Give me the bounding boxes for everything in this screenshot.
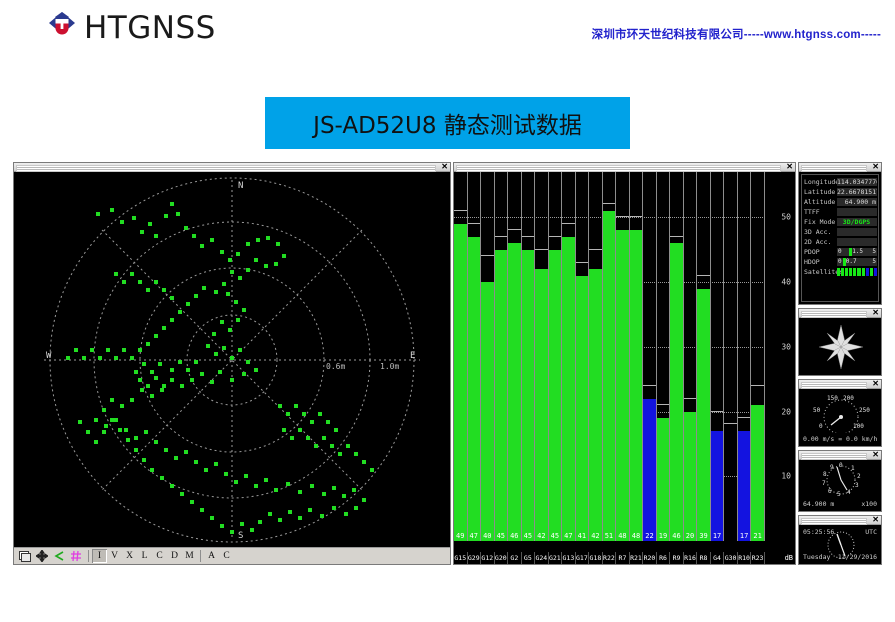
chart-unit-label: dB xyxy=(785,552,793,564)
satellite-name[interactable]: G12 xyxy=(481,552,495,564)
scale-letter-x[interactable]: X xyxy=(122,549,137,563)
signal-bar-peak-marker xyxy=(603,203,616,204)
signal-bar-peak-marker xyxy=(535,249,548,250)
info-row: Fix Mode3D/DGPS xyxy=(803,217,877,227)
speed-tick-0: 0 xyxy=(819,423,823,430)
satellites-row: Satellites xyxy=(803,267,877,277)
grid-icon[interactable] xyxy=(68,549,84,563)
info-row-key: Altitude xyxy=(803,198,837,206)
signal-bar[interactable]: 21 xyxy=(751,172,765,541)
compass-west-label: W xyxy=(46,351,52,361)
signal-bar-peak-marker xyxy=(684,398,697,399)
info-row-value: 114.03477700 ? xyxy=(837,178,877,186)
dop-bar: 00.75 xyxy=(837,258,877,266)
signal-bar[interactable]: 47 xyxy=(562,172,576,541)
signal-bar-peak-marker xyxy=(562,223,575,224)
signal-bar-value: 42 xyxy=(535,532,548,540)
title-banner: JS-AD52U8 静态测试数据 xyxy=(265,97,630,149)
satellite-indicator xyxy=(849,268,852,276)
signal-bar-peak-marker xyxy=(670,236,683,237)
satellite-indicator xyxy=(870,268,873,276)
satellites-key: Satellites xyxy=(803,268,837,276)
signal-bar-value: 51 xyxy=(603,532,616,540)
signal-bar[interactable]: 19 xyxy=(657,172,671,541)
info-row: 3D Acc. xyxy=(803,227,877,237)
titlebar-grip xyxy=(801,311,867,318)
altimeter-window: ✕ 0 1 2 3 4 5 6 7 8 9 64.900 m x100 xyxy=(798,450,882,512)
satellite-indicator xyxy=(841,268,844,276)
info-row-key: Fix Mode xyxy=(803,218,837,226)
signal-bar-peak-marker xyxy=(738,417,751,418)
scatter-plot-canvas[interactable]: N E S W 0.6m 1.0m xyxy=(14,172,450,547)
signal-bar-value: 39 xyxy=(697,532,710,540)
satellite-name-row[interactable]: G15G29G12G20G2G5G24G21G13G17G18R22R7R21R… xyxy=(454,552,765,564)
signal-bar-value: 40 xyxy=(481,532,494,540)
clock-zone: UTC xyxy=(865,528,877,536)
utc-clock-window: ✕ 05:25:56 UTC Tuesday 11/29/2016 xyxy=(798,515,882,565)
satellite-signal-window: ✕ 5040302010 494740454645424547414251484… xyxy=(453,162,796,565)
satellite-indicator xyxy=(837,268,840,276)
info-titlebar[interactable]: ✕ xyxy=(799,163,881,172)
signal-bar-fill xyxy=(616,230,629,541)
scale-letter-m[interactable]: M xyxy=(182,549,197,563)
altitude-readout: 64.900 m xyxy=(803,500,834,508)
scale-letter-l[interactable]: L xyxy=(137,549,152,563)
signal-bar-value: 45 xyxy=(522,532,535,540)
speed-tick-100: 150 xyxy=(827,395,838,402)
info-row: TTFF xyxy=(803,207,877,217)
signal-bar-fill xyxy=(535,269,548,541)
signal-bar[interactable]: 17 xyxy=(738,172,752,541)
chart-y-tick: 40 xyxy=(781,278,791,287)
signal-bar-value: 19 xyxy=(657,532,670,540)
satellite-name[interactable]: G29 xyxy=(468,552,482,564)
satellite-name[interactable]: R16 xyxy=(684,552,698,564)
signal-bar-value: 20 xyxy=(684,532,697,540)
clock-body[interactable]: 05:25:56 UTC Tuesday 11/29/2016 xyxy=(801,527,879,562)
dop-value: 0.7 xyxy=(846,258,857,266)
toolbar-separator xyxy=(88,550,89,562)
close-icon[interactable]: ✕ xyxy=(872,450,879,460)
signal-bar-value: 46 xyxy=(670,532,683,540)
signal-bar[interactable]: 46 xyxy=(670,172,684,541)
signal-bar-value: 45 xyxy=(549,532,562,540)
satellites-bars xyxy=(837,268,877,276)
signal-bar-peak-marker xyxy=(522,236,535,237)
signal-bar[interactable]: 48 xyxy=(616,172,630,541)
satellite-indicator xyxy=(845,268,848,276)
ring-label-06: 0.6m xyxy=(326,362,345,371)
signal-bar-value: 48 xyxy=(630,532,643,540)
info-row-value xyxy=(837,238,877,246)
signal-bar[interactable]: 48 xyxy=(630,172,644,541)
satellite-indicator xyxy=(866,268,869,276)
move-icon[interactable] xyxy=(34,549,50,563)
titlebar-grip xyxy=(456,165,781,172)
signal-bar[interactable]: 40 xyxy=(481,172,495,541)
satellite-indicator xyxy=(862,268,865,276)
signal-bar-peak-marker xyxy=(711,411,724,412)
speed-titlebar[interactable]: ✕ xyxy=(799,380,881,389)
signal-bar-peak-marker xyxy=(616,216,629,217)
compass-north-label: N xyxy=(238,181,243,191)
signal-bar-peak-marker xyxy=(657,404,670,405)
signal-bar-value: 21 xyxy=(751,532,764,540)
satellite-name[interactable]: R23 xyxy=(751,552,765,564)
signal-bar[interactable]: 22 xyxy=(643,172,657,541)
close-icon[interactable]: ✕ xyxy=(872,162,879,172)
titlebar-grip xyxy=(801,453,867,460)
signal-bar-fill xyxy=(508,243,521,541)
signal-bar-fill xyxy=(697,289,710,541)
alt-tick-2: 2 xyxy=(857,473,861,480)
signal-bar-fill xyxy=(495,250,508,541)
signal-bar-peak-marker xyxy=(454,210,467,211)
satellite-name[interactable]: R8 xyxy=(697,552,711,564)
signal-bar[interactable]: 46 xyxy=(508,172,522,541)
titlebar-grip xyxy=(16,165,436,172)
alt-tick-4: 4 xyxy=(847,489,851,496)
titlebar-grip xyxy=(801,165,867,172)
close-icon[interactable]: ✕ xyxy=(786,162,793,172)
close-icon[interactable]: ✕ xyxy=(872,379,879,389)
clock-weekday: Tuesday xyxy=(803,553,830,561)
signal-bar-peak-marker xyxy=(724,423,737,424)
info-row-value xyxy=(837,228,877,236)
speedometer-body[interactable]: 150 200 50 250 0 100 0.00 m/s = 0.0 km/h xyxy=(801,391,879,444)
skyplot-titlebar[interactable]: ✕ xyxy=(14,163,450,172)
alt-tick-0: 0 xyxy=(839,462,843,469)
shield-diamond-icon xyxy=(44,10,80,46)
signal-bar[interactable]: 51 xyxy=(603,172,617,541)
info-row-value xyxy=(837,208,877,216)
signal-bar[interactable]: 41 xyxy=(576,172,590,541)
signal-bar-fill xyxy=(522,250,535,541)
signal-bar-fill xyxy=(603,211,616,541)
satellite-name[interactable]: G21 xyxy=(549,552,563,564)
close-icon[interactable]: ✕ xyxy=(872,515,879,525)
signal-bar-peak-marker xyxy=(576,262,589,263)
close-icon[interactable]: ✕ xyxy=(872,308,879,318)
satellite-name[interactable]: G24 xyxy=(535,552,549,564)
compass-south-label: S xyxy=(238,531,243,541)
scale-letter-i[interactable]: I xyxy=(92,549,107,563)
brand-logo: HTGNSS xyxy=(44,10,216,46)
altitude-multiplier: x100 xyxy=(861,500,877,508)
satellite-name[interactable]: G15 xyxy=(454,552,468,564)
signal-bar[interactable]: 39 xyxy=(697,172,711,541)
info-rows: Longitude114.03477700 ?Latitude22.667815… xyxy=(801,174,879,302)
signal-bar[interactable]: 42 xyxy=(535,172,549,541)
dop-min: 0 xyxy=(838,248,842,256)
info-row: Altitude64.900 m xyxy=(803,197,877,207)
satellite-name[interactable]: R7 xyxy=(616,552,630,564)
clock-date: 11/29/2016 xyxy=(838,553,877,561)
skyplot-toolbar[interactable]: I V X L C D M A C xyxy=(14,547,450,564)
company-line: 深圳市环天世纪科技有限公司-----www.htgnss.com----- xyxy=(592,26,881,42)
signal-bar-value: 17 xyxy=(738,532,751,540)
compass-rose-icon xyxy=(801,320,879,373)
satellite-name[interactable]: R20 xyxy=(643,552,657,564)
signal-bar-peak-marker xyxy=(630,216,643,217)
mode-letter-c[interactable]: C xyxy=(219,549,234,563)
dop-key: HDOP xyxy=(803,258,837,266)
satellite-name[interactable]: G13 xyxy=(562,552,576,564)
alt-tick-1: 1 xyxy=(851,465,855,472)
signal-bar-fill xyxy=(643,399,656,541)
signal-bar-peak-marker xyxy=(508,229,521,230)
signal-bar-peak-marker xyxy=(697,275,710,276)
signal-bar-value: 22 xyxy=(643,532,656,540)
info-row-value: 64.900 m xyxy=(837,198,877,206)
speed-tick-200: 250 xyxy=(859,407,870,414)
signal-bar-peak-marker xyxy=(468,223,481,224)
scatter-position-window: ✕ N E S W 0.6m 1.0m xyxy=(13,162,451,565)
compass-rose-window: ✕ xyxy=(798,308,882,376)
mode-letter-a[interactable]: A xyxy=(204,549,219,563)
signal-bar-fill xyxy=(684,412,697,541)
dop-bar: 01.55 xyxy=(837,248,877,256)
info-row: Latitude22.667815177 xyxy=(803,187,877,197)
signal-bar[interactable]: 45 xyxy=(522,172,536,541)
satellite-indicator xyxy=(874,268,877,276)
speed-tick-150: 200 xyxy=(843,395,854,402)
dop-value: 1.5 xyxy=(852,248,863,256)
signal-bar-peak-marker xyxy=(643,385,656,386)
alt-tick-3: 3 xyxy=(855,482,859,489)
ring-label-10: 1.0m xyxy=(380,362,399,371)
dop-max: 5 xyxy=(872,258,876,266)
info-row-key: Latitude xyxy=(803,188,837,196)
satellite-name[interactable]: R6 xyxy=(657,552,671,564)
signal-bar[interactable]: 49 xyxy=(454,172,468,541)
chart-y-tick: 20 xyxy=(781,407,791,416)
satellite-indicator xyxy=(853,268,856,276)
polyline-icon[interactable] xyxy=(51,549,67,563)
brand-name: HTGNSS xyxy=(84,10,216,46)
clock-titlebar[interactable]: ✕ xyxy=(799,516,881,525)
scale-letter-v[interactable]: V xyxy=(107,549,122,563)
satellite-name[interactable]: R10 xyxy=(738,552,752,564)
clock-time: 05:25:56 xyxy=(803,528,834,536)
signal-bar[interactable] xyxy=(724,172,738,541)
satellite-name[interactable]: R22 xyxy=(603,552,617,564)
signal-bar-fill xyxy=(481,282,494,541)
signal-bar-peak-marker xyxy=(495,236,508,237)
info-row-value: 22.667815177 xyxy=(837,188,877,196)
compass-titlebar[interactable]: ✕ xyxy=(799,309,881,318)
signal-bar-fill xyxy=(751,405,764,541)
signal-bar-value: 46 xyxy=(508,532,521,540)
satellite-name[interactable]: G2 xyxy=(508,552,522,564)
satellite-name[interactable]: G4 xyxy=(711,552,725,564)
signal-bar-fill xyxy=(454,224,467,541)
scale-letter-c[interactable]: C xyxy=(152,549,167,563)
alt-tick-5: 5 xyxy=(837,491,841,498)
signal-bar-value: 47 xyxy=(562,532,575,540)
signal-bar-value: 17 xyxy=(711,532,724,540)
satellite-name[interactable]: R21 xyxy=(630,552,644,564)
info-row: Longitude114.03477700 ? xyxy=(803,177,877,187)
signal-bar-fill xyxy=(711,431,724,541)
signal-bar-value: 45 xyxy=(495,532,508,540)
titlebar-grip xyxy=(801,518,867,525)
signal-bar-fill xyxy=(468,237,481,541)
signal-bar[interactable]: 42 xyxy=(589,172,603,541)
signal-bar[interactable]: 17 xyxy=(711,172,725,541)
hdop-row: HDOP00.75 xyxy=(803,257,877,267)
signal-bars[interactable]: 4947404546454245474142514848221946203917… xyxy=(454,172,765,541)
signal-bar-fill xyxy=(589,269,602,541)
signal-bar[interactable]: 45 xyxy=(549,172,563,541)
signal-bar[interactable]: 20 xyxy=(684,172,698,541)
alt-tick-9: 9 xyxy=(830,464,834,471)
info-row: 2D Acc. xyxy=(803,237,877,247)
scatter-plot-svg: N E S W 0.6m 1.0m xyxy=(14,172,450,547)
dop-key: PDOP xyxy=(803,248,837,256)
chart-y-tick: 50 xyxy=(781,213,791,222)
satellite-name[interactable]: G5 xyxy=(522,552,536,564)
signal-bar-fill xyxy=(657,418,670,541)
satellite-name[interactable]: G30 xyxy=(724,552,738,564)
chart-y-tick: 30 xyxy=(781,342,791,351)
page-header: HTGNSS 深圳市环天世纪科技有限公司-----www.htgnss.com-… xyxy=(0,0,895,76)
compass-east-label: E xyxy=(410,351,415,361)
signal-bar-fill xyxy=(630,230,643,541)
altimeter-body[interactable]: 0 1 2 3 4 5 6 7 8 9 64.900 m x100 xyxy=(801,462,879,509)
info-row-key: 2D Acc. xyxy=(803,238,837,246)
alt-titlebar[interactable]: ✕ xyxy=(799,451,881,460)
scale-letter-d[interactable]: D xyxy=(167,549,182,563)
speedometer-window: ✕ 150 200 50 250 0 100 0.00 m/s = 0.0 km… xyxy=(798,379,882,447)
application-area: ✕ N E S W 0.6m 1.0m xyxy=(13,162,882,565)
speed-tick-50: 50 xyxy=(813,407,820,414)
alt-tick-8: 8 xyxy=(823,471,827,478)
info-row-value: 3D/DGPS xyxy=(837,218,877,226)
dop-min: 0 xyxy=(838,258,842,266)
compass-body[interactable] xyxy=(801,320,879,373)
alt-tick-7: 7 xyxy=(822,480,826,487)
signal-bar-peak-marker xyxy=(481,255,494,256)
speed-tick-250: 100 xyxy=(853,423,864,430)
signal-bar-fill xyxy=(738,431,751,541)
signal-bar-value: 41 xyxy=(576,532,589,540)
signal-bar-peak-marker xyxy=(751,385,764,386)
signal-bar-fill xyxy=(576,276,589,541)
close-icon[interactable]: ✕ xyxy=(441,162,448,172)
info-row-key: Longitude xyxy=(803,178,837,186)
satellite-name[interactable]: G20 xyxy=(495,552,509,564)
signal-bar-value: 42 xyxy=(589,532,602,540)
satellite-name[interactable]: G18 xyxy=(589,552,603,564)
alt-tick-6: 6 xyxy=(828,488,832,495)
signal-bar-value: 49 xyxy=(454,532,467,540)
info-row-key: TTFF xyxy=(803,208,837,216)
signal-bar-fill xyxy=(670,243,683,541)
chart-y-tick: 10 xyxy=(781,472,791,481)
page-title: JS-AD52U8 静态测试数据 xyxy=(313,106,582,140)
dop-max: 5 xyxy=(872,248,876,256)
window-icon[interactable] xyxy=(17,549,33,563)
titlebar-grip xyxy=(801,382,867,389)
signal-bar-fill xyxy=(562,237,575,541)
signal-bar-value: 47 xyxy=(468,532,481,540)
signal-bar-peak-marker xyxy=(549,236,562,237)
info-row-key: 3D Acc. xyxy=(803,228,837,236)
toolbar-separator-2 xyxy=(200,550,201,562)
signal-bar-fill xyxy=(549,250,562,541)
satellite-indicator xyxy=(857,268,860,276)
signal-bar-peak-marker xyxy=(589,249,602,250)
signal-bar[interactable]: 47 xyxy=(468,172,482,541)
position-info-window: ✕ Longitude114.03477700 ?Latitude22.6678… xyxy=(798,162,882,305)
satellite-name[interactable]: G17 xyxy=(576,552,590,564)
signal-bar[interactable]: 45 xyxy=(495,172,509,541)
satellite-name[interactable]: R9 xyxy=(670,552,684,564)
speed-readout: 0.00 m/s = 0.0 km/h xyxy=(803,435,877,443)
signal-bar-value: 48 xyxy=(616,532,629,540)
signal-chart-canvas[interactable]: 5040302010 49474045464542454741425148482… xyxy=(454,172,795,564)
signal-titlebar[interactable]: ✕ xyxy=(454,163,795,172)
pdop-row: PDOP01.55 xyxy=(803,247,877,257)
